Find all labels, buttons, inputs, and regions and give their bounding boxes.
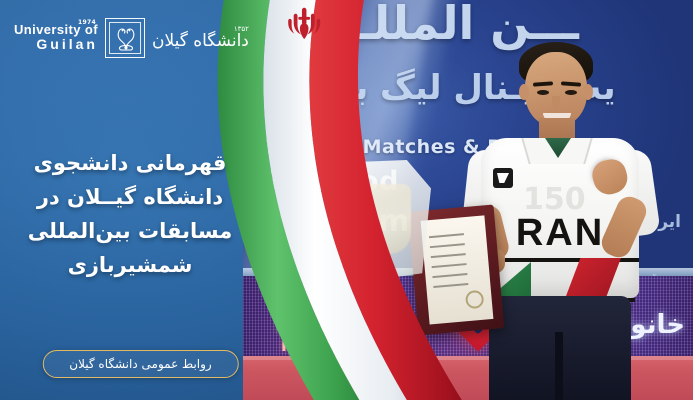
university-of-guilan-logo[interactable]: 1974 University of Guilan ۱۳۵۲ دانشگاه گ… <box>14 18 249 58</box>
news-banner: ـــن المللـ یت ویـنال لیگ برتر Satellite… <box>0 0 693 400</box>
led-sponsor-persian: بیمه ملت <box>277 312 380 338</box>
logo-english-line2: Guilan <box>36 37 98 52</box>
eye-right <box>565 90 577 95</box>
headline-line-3: مسابقات بین‌المللی <box>17 214 243 248</box>
twin-herons-emblem-icon <box>105 18 145 58</box>
page-title: قهرمانی دانشجوی دانشگاه گیــلان در مسابق… <box>17 146 243 282</box>
led-sponsor-english: Melat <box>281 336 332 355</box>
headline-line-2: دانشگاه گیــلان در <box>17 180 243 214</box>
trouser-gap <box>555 332 563 400</box>
public-relations-badge[interactable]: روابط عمومی دانشگاه گیلان <box>42 350 238 378</box>
backdrop-persian-right: ایر <box>658 212 681 232</box>
logo-persian-name: دانشگاه گیلان <box>152 31 249 51</box>
ear-left <box>519 84 529 100</box>
logo-persian-text: ۱۳۵۲ دانشگاه گیلان <box>152 25 249 51</box>
headline-line-4: شمشیربازی <box>17 248 243 282</box>
logo-english-year: 1974 <box>78 20 96 26</box>
photo-region: ـــن المللـ یت ویـنال لیگ برتر Satellite… <box>243 0 693 400</box>
ear-right <box>583 84 593 100</box>
logo-english-text: 1974 University of Guilan <box>14 23 98 52</box>
eye-left <box>537 90 549 95</box>
certificate-paper <box>421 215 494 324</box>
certificate-seal-icon <box>465 290 485 310</box>
headline-line-1: قهرمانی دانشجوی <box>17 146 243 180</box>
sport-brand-icon <box>493 168 513 188</box>
nose <box>552 96 560 110</box>
athlete-figure: 150 RAN <box>467 10 653 400</box>
